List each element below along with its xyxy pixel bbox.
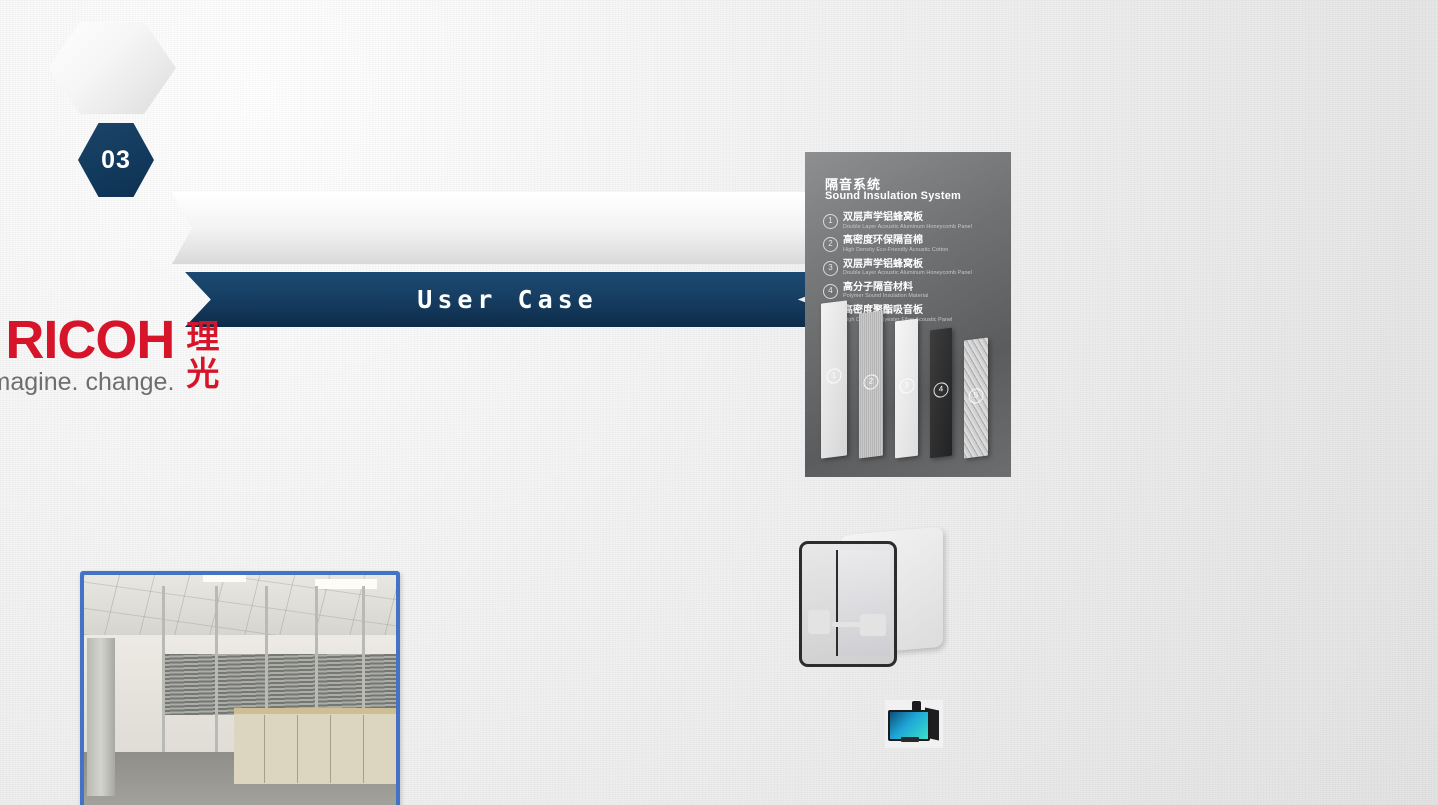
pod-table [832,622,866,627]
layer-number: 3 [823,261,838,276]
photo1-mullion-1 [162,586,165,754]
layer-number: 2 [823,237,838,252]
logo-latin-block: RICOH imagine. change. [0,315,174,397]
logo-cn-line1: 理 [186,319,219,356]
insulation-panel-illustration: 1 2 3 4 5 [813,288,1005,463]
header-band-frame [172,192,842,264]
layer-label-en: Double Layer Acoustic Aluminum Honeycomb… [843,270,972,277]
panel-layer-number: 3 [899,377,914,394]
slide-canvas: 03 User Case RICOH imagine. change. 理 光 [0,0,1438,805]
panel-layer-2: 2 [859,311,883,459]
photo1-mullion-2 [215,586,218,754]
header-section-number-badge: 03 [78,123,154,197]
layer-label-en: Double Layer Acoustic Aluminum Honeycomb… [843,224,972,231]
photo1-light-1 [315,579,377,588]
layer-label-en: High Density Eco-Friendly Acoustic Cotto… [843,247,948,254]
photo1-cabinet-seam-2 [297,715,298,783]
photo1-scene [84,575,396,805]
panel-layer-number: 1 [827,368,842,385]
pod-seat-left [808,610,830,634]
logo-cn-line2: 光 [186,356,219,393]
panel-layer-number: 5 [969,387,984,404]
insulation-layer-item: 3 双层声学铝蜂窝板 Double Layer Acoustic Aluminu… [823,259,999,277]
panel-layer-5: 5 [964,338,988,459]
panel-layer-4: 4 [930,328,952,459]
photo-office-partition [80,571,400,805]
sound-insulation-board: 隔音系统 Sound Insulation System 1 双层声学铝蜂窝板 … [805,152,1011,477]
photo1-cabinet-seam-1 [264,715,265,783]
photo1-cabinets [234,708,399,785]
header-hexagon-frame [48,22,176,114]
layer-text-block: 双层声学铝蜂窝板 Double Layer Acoustic Aluminum … [843,259,972,277]
logo-chinese-block: 理 光 [186,319,219,393]
photo1-light-2 [203,575,247,582]
insulation-layer-item: 1 双层声学铝蜂窝板 Double Layer Acoustic Aluminu… [823,212,999,230]
layer-label-cn: 双层声学铝蜂窝板 [843,259,972,271]
layer-label-cn: 高密度环保隔音棉 [843,235,948,247]
pod-front-frame [799,541,897,667]
panel-layer-1: 1 [821,300,847,458]
photo1-cabinet-seam-4 [363,715,364,783]
kandao-device-image [885,700,943,748]
photo1-cabinet-seam-3 [330,715,331,783]
logo-tagline-text: imagine. change. [0,369,174,397]
layer-label-cn: 双层声学铝蜂窝板 [843,212,972,224]
pod-glass-door [836,550,890,656]
layer-text-block: 高密度环保隔音棉 High Density Eco-Friendly Acous… [843,235,948,253]
photo1-door-panel [87,638,115,796]
ricoh-logo: RICOH imagine. change. 理 光 [0,315,1422,397]
insulation-title-en: Sound Insulation System [825,190,961,202]
panel-layer-3: 3 [895,319,918,459]
panel-layer-number: 4 [934,382,949,399]
section-number-text: 03 [101,146,131,175]
silent-pod-render [793,525,953,665]
layer-number: 1 [823,214,838,229]
panel-layer-number: 2 [864,373,879,390]
page-title: User Case [417,285,597,314]
layer-text-block: 双层声学铝蜂窝板 Double Layer Acoustic Aluminum … [843,212,972,230]
logo-brand-text: RICOH [5,315,174,366]
insulation-layer-item: 2 高密度环保隔音棉 High Density Eco-Friendly Aco… [823,235,999,253]
kandao-base [901,737,919,742]
